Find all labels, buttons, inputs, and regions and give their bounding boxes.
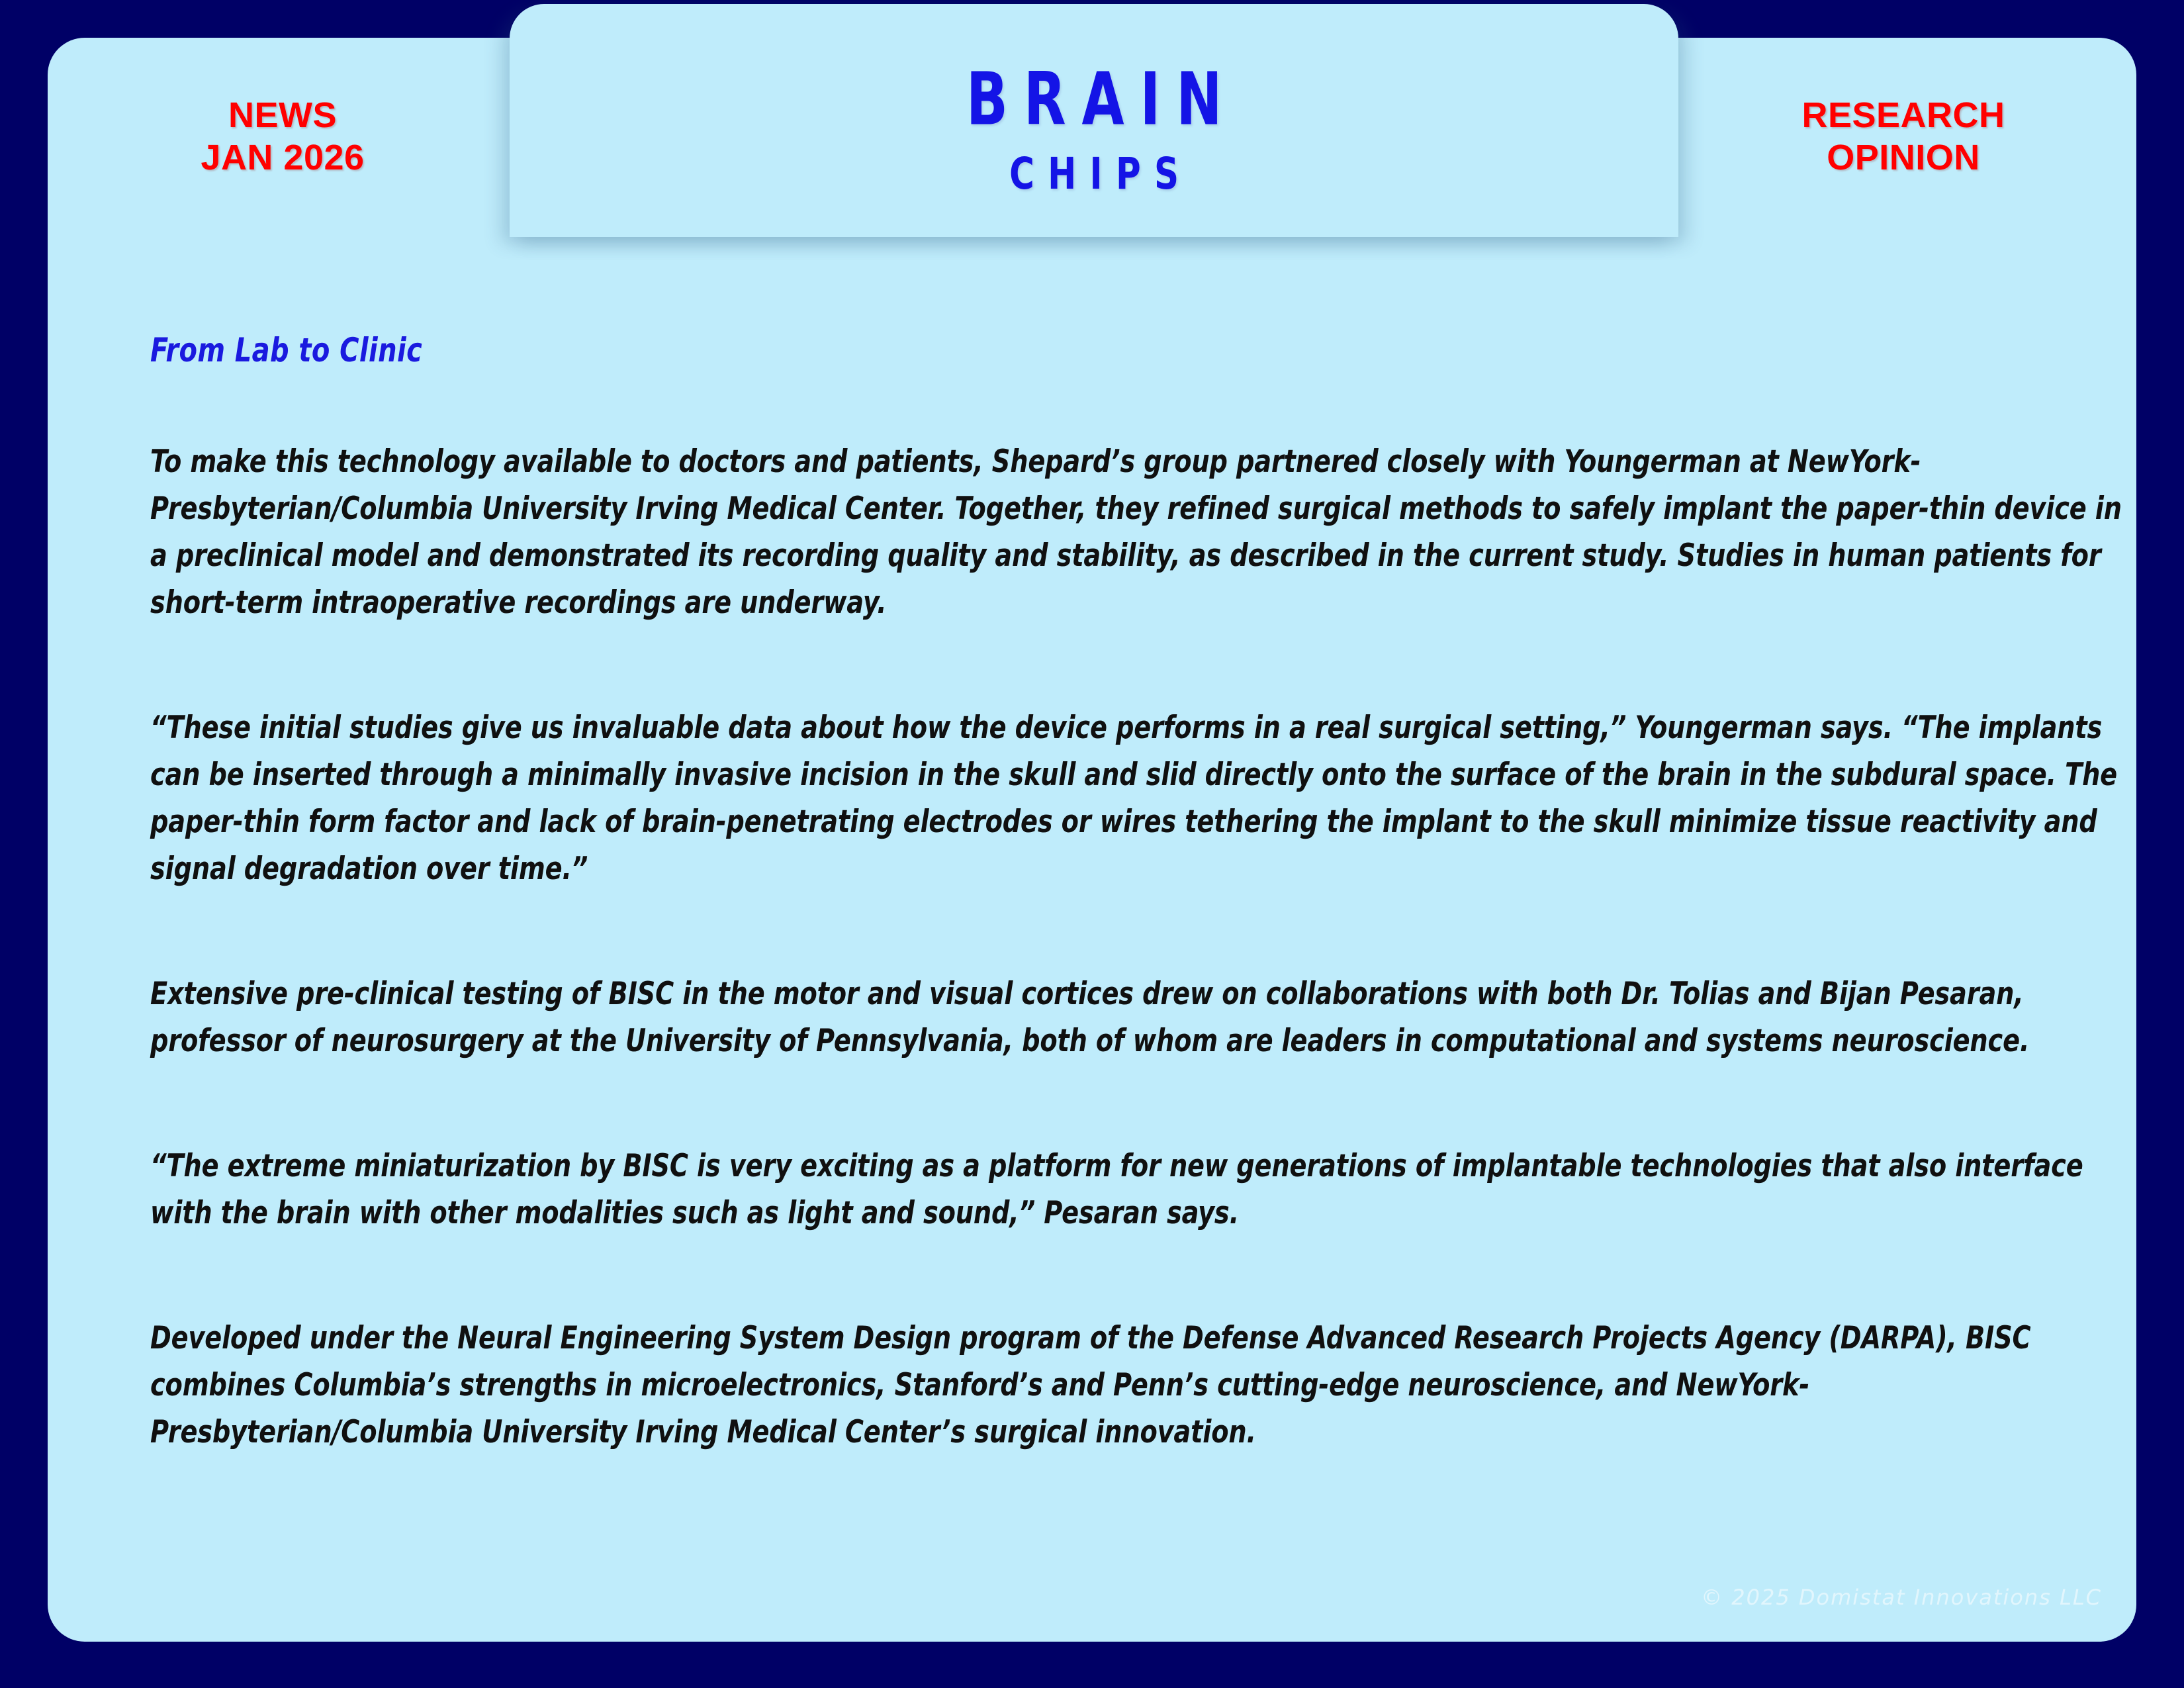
article-body: From Lab to Clinic To make this technolo…: [150, 331, 2132, 1456]
masthead-title: BRAIN: [950, 64, 1238, 136]
tab-news-label: NEWS JAN 2026: [201, 95, 364, 179]
article-paragraph: Extensive pre-clinical testing of BISC i…: [150, 970, 2132, 1064]
tab-research-line2: OPINION: [1801, 137, 2005, 179]
copyright-watermark: © 2025 Domistat Innovations LLC: [1701, 1585, 2102, 1610]
article-paragraph: “The extreme miniaturization by BISC is …: [150, 1143, 2132, 1237]
tab-research-line1: RESEARCH: [1801, 95, 2005, 137]
masthead-subtitle: CHIPS: [996, 153, 1192, 197]
section-heading: From Lab to Clinic: [150, 331, 1736, 369]
tab-news-line2: JAN 2026: [201, 137, 364, 179]
tab-news-line1: NEWS: [201, 95, 364, 137]
article-paragraph: To make this technology available to doc…: [150, 438, 2132, 626]
article-card: From Lab to Clinic To make this technolo…: [48, 199, 2136, 1642]
masthead: BRAIN CHIPS: [510, 48, 1678, 193]
tab-research-opinion-label: RESEARCH OPINION: [1801, 95, 2005, 179]
article-paragraph: “These initial studies give us invaluabl…: [150, 704, 2132, 892]
article-paragraph: Developed under the Neural Engineering S…: [150, 1315, 2132, 1456]
tab-masthead[interactable]: BRAIN CHIPS: [510, 4, 1678, 237]
page-root: NEWS JAN 2026 BRAIN CHIPS RESEARCH OPINI…: [0, 0, 2184, 1688]
